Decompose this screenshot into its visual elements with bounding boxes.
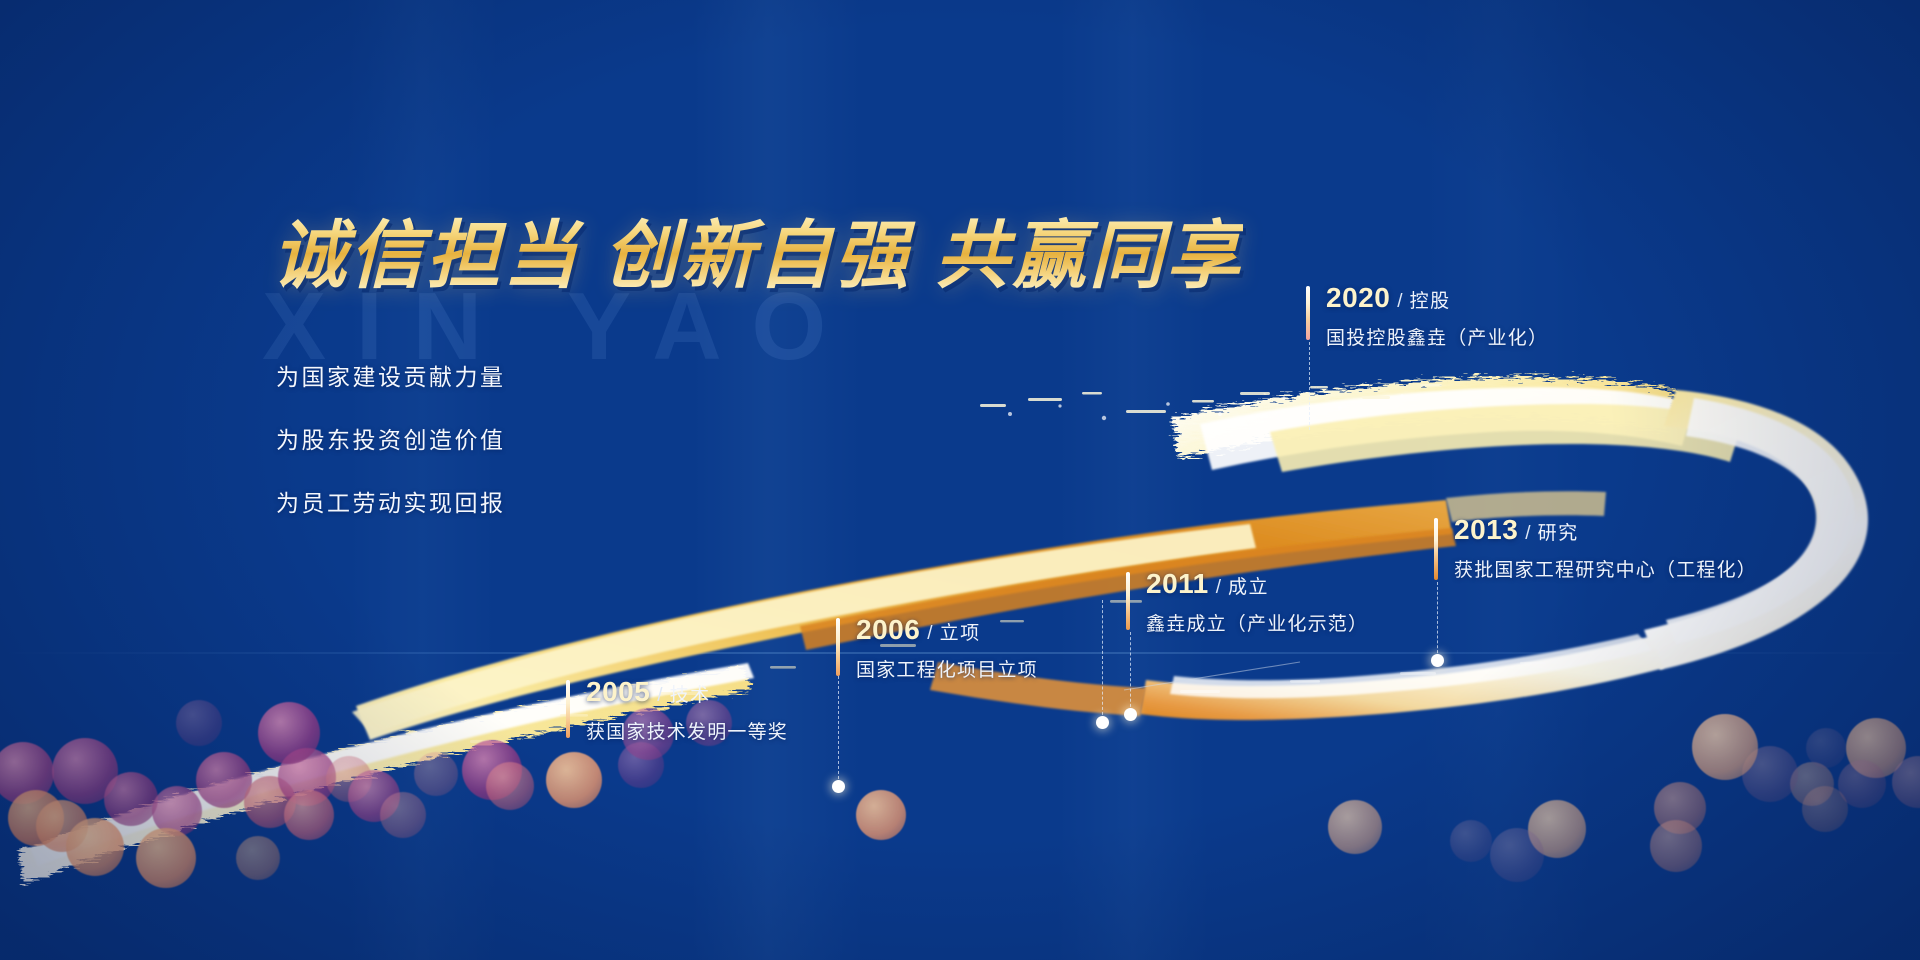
timeline-text-block: 2011 / 成立 鑫垚成立（产业化示范） <box>1146 568 1368 636</box>
timeline-text-block: 2005 / 技术 获国家技术发明一等奖 <box>586 676 788 744</box>
slogan-list: 为国家建设贡献力量 为股东投资创造价值 为员工劳动实现回报 <box>276 358 506 547</box>
timeline-tag: 研究 <box>1538 518 1579 545</box>
timeline-marker-dot-2005[interactable] <box>832 780 845 793</box>
timeline-leader-line-2011 <box>1130 632 1131 712</box>
timeline-header-row: 2011 / 成立 <box>1146 568 1368 600</box>
timeline-text-block: 2013 / 研究 获批国家工程研究中心（工程化） <box>1454 514 1757 582</box>
timeline-header-row: 2005 / 技术 <box>586 676 788 708</box>
timeline-separator: / <box>657 685 662 707</box>
timeline-description: 国投控股鑫垚（产业化） <box>1326 323 1548 350</box>
timeline-separator: / <box>1216 577 1221 599</box>
timeline-year: 2013 <box>1454 514 1518 546</box>
corporate-culture-banner: XIN YAO <box>0 0 1920 960</box>
timeline-leader-line-2013 <box>1437 582 1438 658</box>
timeline-leader-line-2006 <box>1102 600 1103 720</box>
slogan-item: 为国家建设贡献力量 <box>276 358 506 392</box>
slogan-item: 为员工劳动实现回报 <box>276 484 506 518</box>
timeline-text-block: 2020 / 控股 国投控股鑫垚（产业化） <box>1326 282 1548 350</box>
timeline-tag: 成立 <box>1228 572 1269 599</box>
timeline-tag: 控股 <box>1410 286 1451 313</box>
timeline-accent-bar <box>1434 518 1438 580</box>
page-title: 诚信担当 创新自强 共赢同享 <box>272 196 1243 303</box>
timeline-accent-bar <box>1306 286 1310 340</box>
slogan-item: 为股东投资创造价值 <box>276 421 506 455</box>
timeline-year: 2005 <box>586 676 650 708</box>
timeline-separator: / <box>927 623 932 645</box>
timeline-description: 鑫垚成立（产业化示范） <box>1146 609 1368 636</box>
timeline-header-row: 2020 / 控股 <box>1326 282 1548 314</box>
timeline-separator: / <box>1525 523 1530 545</box>
timeline-marker-dot-2006[interactable] <box>1096 716 1109 729</box>
timeline-marker-dot-2013[interactable] <box>1431 654 1444 667</box>
timeline-leader-line-2020 <box>1309 342 1310 430</box>
timeline-separator: / <box>1397 291 1402 313</box>
timeline-description: 国家工程化项目立项 <box>856 655 1038 682</box>
timeline-tag: 立项 <box>940 618 981 645</box>
timeline-year: 2011 <box>1146 568 1209 600</box>
timeline-marker-dot-2011[interactable] <box>1124 708 1137 721</box>
timeline-description: 获批国家工程研究中心（工程化） <box>1454 555 1757 582</box>
timeline-tag: 技术 <box>670 680 711 707</box>
timeline-description: 获国家技术发明一等奖 <box>586 717 788 744</box>
timeline-header-row: 2013 / 研究 <box>1454 514 1757 546</box>
timeline-header-row: 2006 / 立项 <box>856 614 1038 646</box>
timeline-leader-line-2005 <box>838 666 839 784</box>
timeline-text-block: 2006 / 立项 国家工程化项目立项 <box>856 614 1038 682</box>
timeline-year: 2006 <box>856 614 920 646</box>
timeline-accent-bar <box>1126 572 1130 630</box>
timeline-year: 2020 <box>1326 282 1390 314</box>
timeline-accent-bar <box>566 680 570 738</box>
timeline-accent-bar <box>836 618 840 676</box>
